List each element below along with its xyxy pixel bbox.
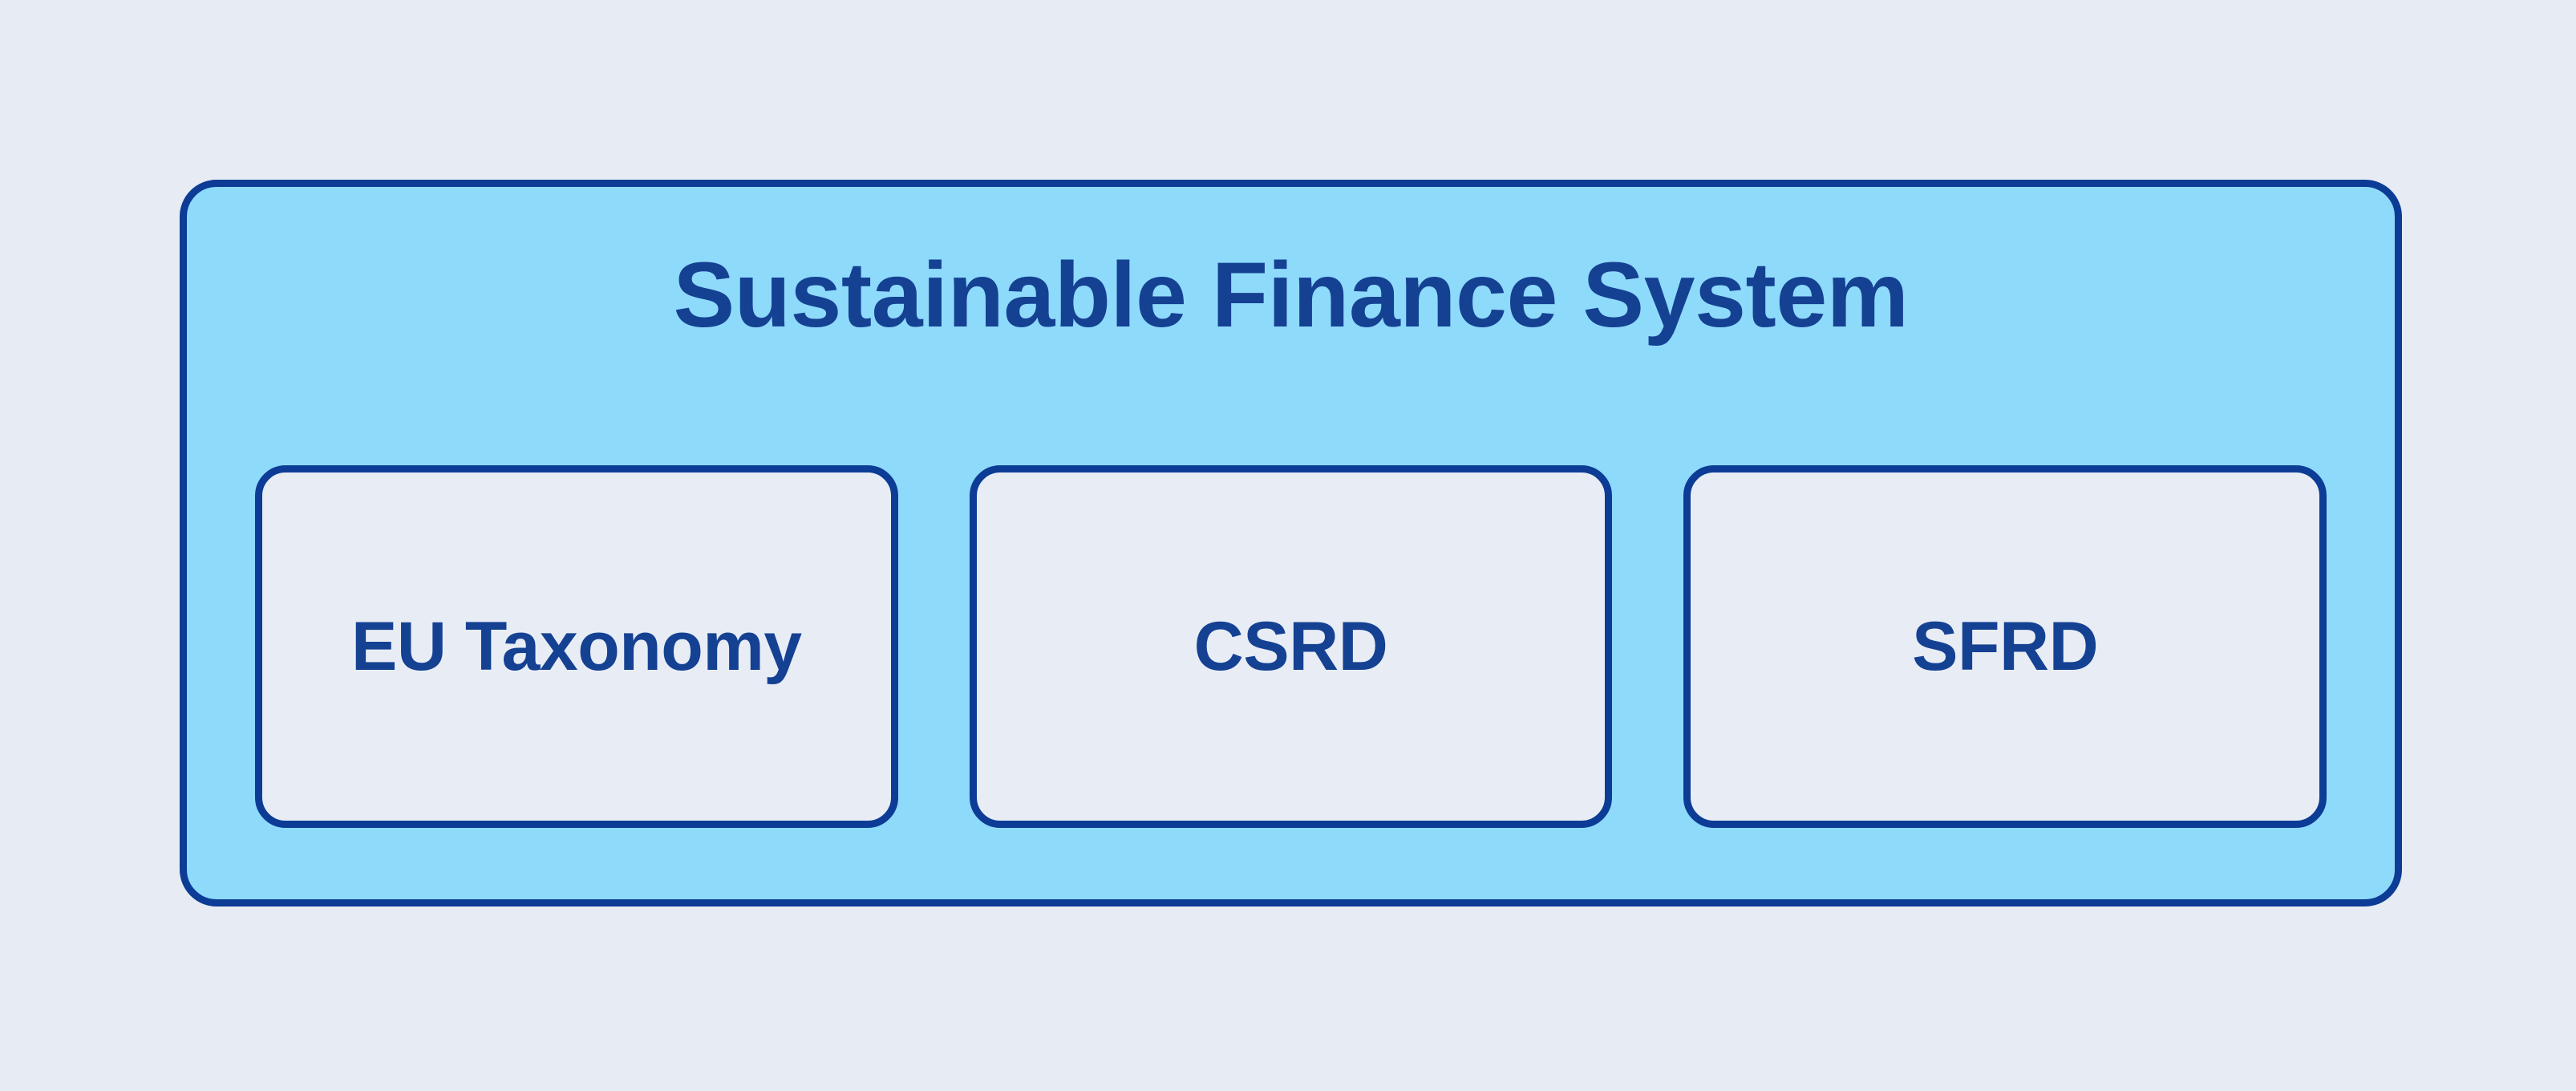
component-card-eu-taxonomy[interactable]: EU Taxonomy	[255, 465, 898, 828]
component-card-label: EU Taxonomy	[351, 610, 802, 683]
component-row: EU Taxonomy CSRD SFRD	[255, 465, 2327, 828]
sustainable-finance-system-container: Sustainable Finance System EU Taxonomy C…	[180, 180, 2402, 906]
diagram-canvas: Sustainable Finance System EU Taxonomy C…	[0, 0, 2576, 1091]
component-card-label: CSRD	[1194, 610, 1388, 683]
component-card-sfrd[interactable]: SFRD	[1683, 465, 2327, 828]
system-title: Sustainable Finance System	[187, 249, 2395, 342]
component-card-csrd[interactable]: CSRD	[970, 465, 1613, 828]
component-card-label: SFRD	[1912, 610, 2098, 683]
